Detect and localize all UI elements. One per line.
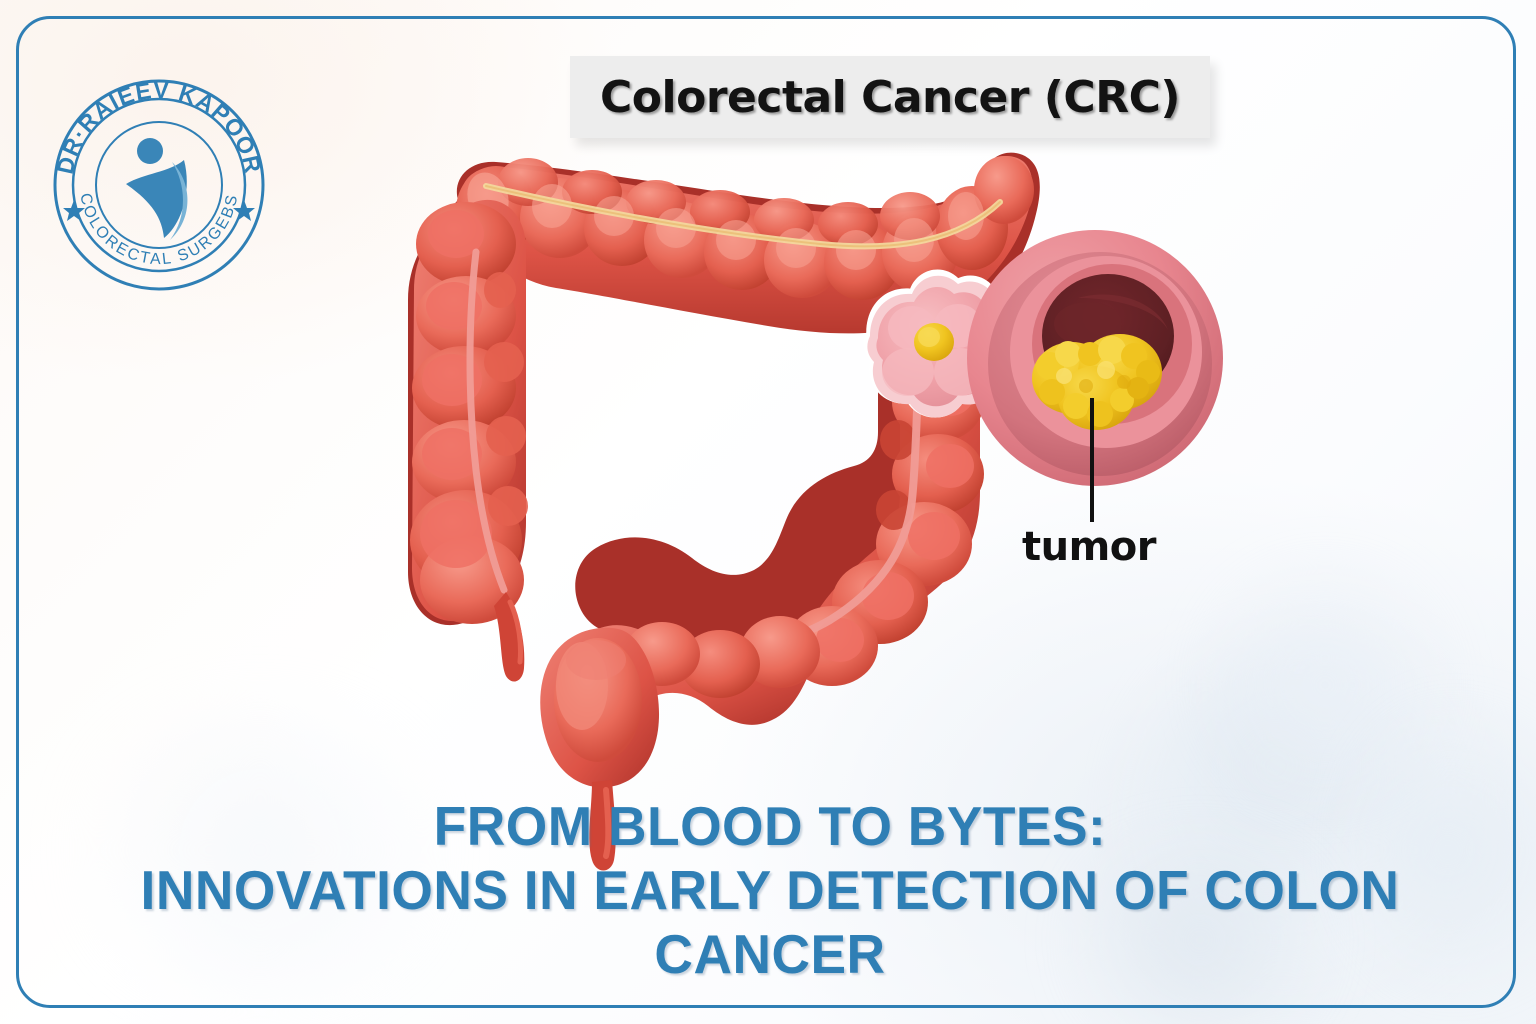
ascending-colon — [410, 200, 528, 682]
clinic-logo-badge[interactable]: DR·RAIEEV KAPOOR COLORECTAL SURGEBS — [52, 78, 266, 292]
headline-line-1: FROM BLOOD TO BYTES: — [91, 795, 1449, 859]
tumor-label: tumor — [1022, 524, 1156, 570]
headline: FROM BLOOD TO BYTES: INNOVATIONS IN EARL… — [70, 795, 1470, 986]
human-figure-icon — [126, 138, 188, 240]
colon-cross-section — [967, 230, 1223, 486]
headline-line-2: INNOVATIONS IN EARLY DETECTION OF COLON — [91, 859, 1449, 923]
infographic-canvas: DR·RAIEEV KAPOOR COLORECTAL SURGEBS Colo… — [0, 0, 1536, 1024]
logo-top-arc-text: DR·RAIEEV KAPOOR — [52, 78, 266, 176]
large-intestine-diagram — [400, 140, 1280, 800]
title-banner: Colorectal Cancer (CRC) — [570, 56, 1210, 138]
headline-line-3: CANCER — [91, 923, 1449, 987]
page-title: Colorectal Cancer (CRC) — [600, 72, 1180, 123]
